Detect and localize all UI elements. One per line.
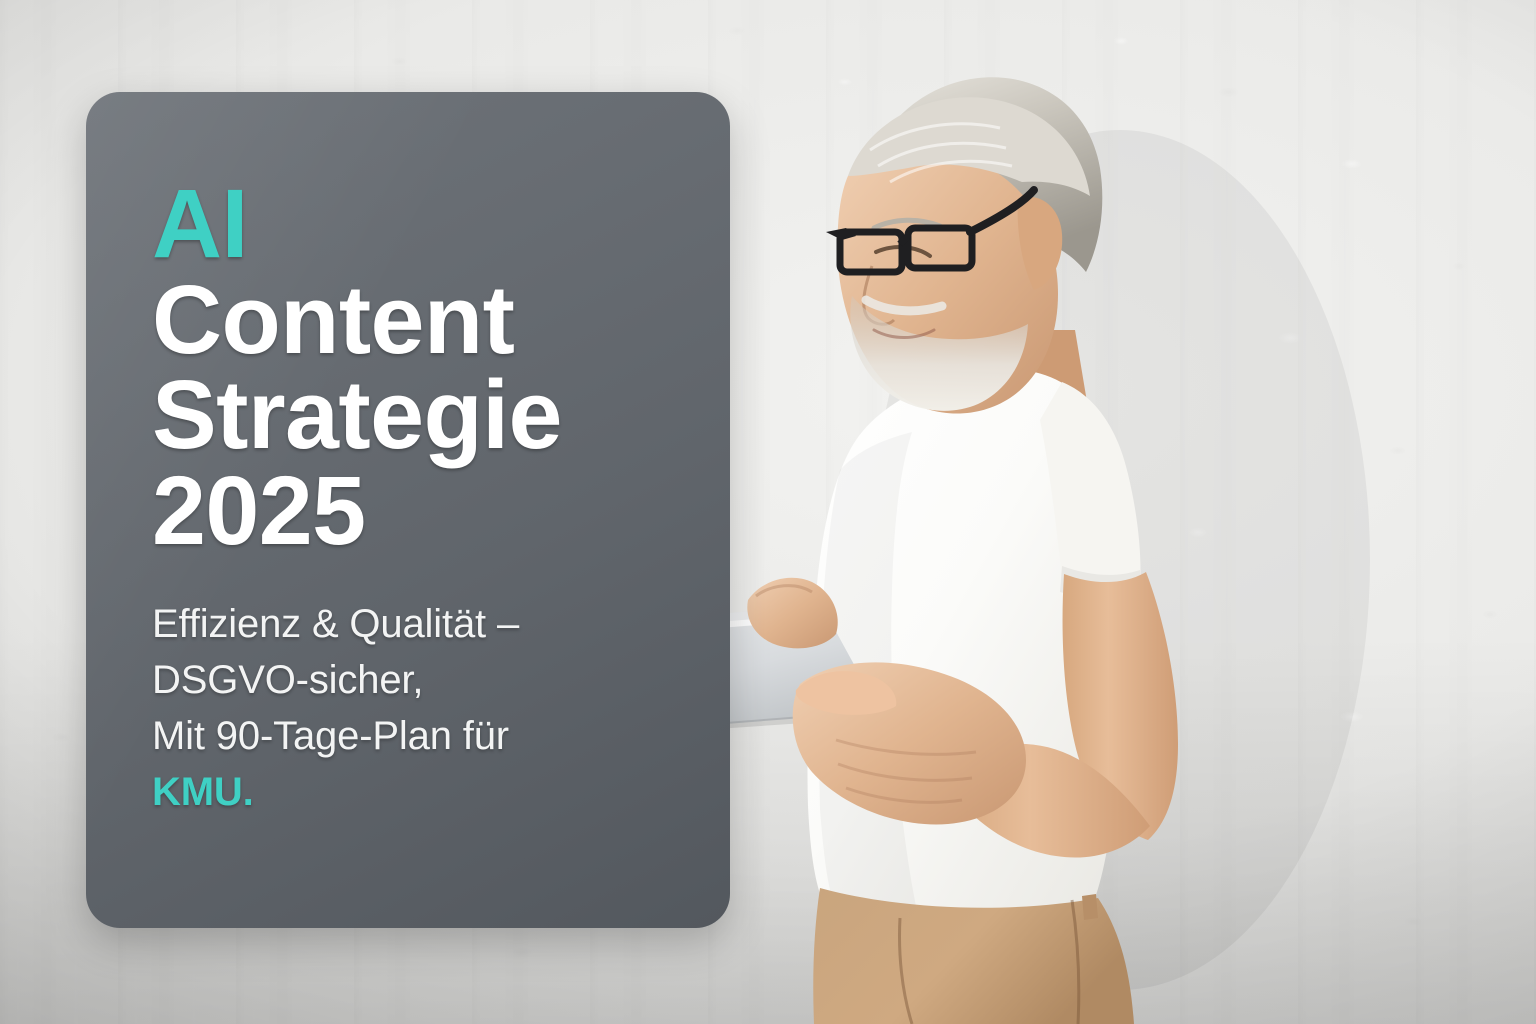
subheadline-line-2: DSGVO-sicher, <box>152 652 710 708</box>
page-title: AI Content Strategie 2025 <box>152 176 710 558</box>
subheadline: Effizienz & Qualität – DSGVO-sicher, Mit… <box>152 558 710 820</box>
headline-eyebrow-ai: AI <box>152 176 710 272</box>
subheadline-accent-kmu: KMU. <box>152 764 710 820</box>
trouser-belt-loop <box>1082 894 1098 920</box>
headline-line-1: Content <box>152 272 710 368</box>
subheadline-line-1: Effizienz & Qualität – <box>152 596 710 652</box>
headline-line-3: 2025 <box>152 463 710 559</box>
headline-line-2: Strategie <box>152 367 710 463</box>
headline-card: AI Content Strategie 2025 Effizienz & Qu… <box>86 92 730 928</box>
card-content: AI Content Strategie 2025 Effizienz & Qu… <box>152 176 710 820</box>
subheadline-line-3: Mit 90-Tage-Plan für <box>152 708 710 764</box>
poster-canvas: AI Content Strategie 2025 Effizienz & Qu… <box>0 0 1536 1024</box>
